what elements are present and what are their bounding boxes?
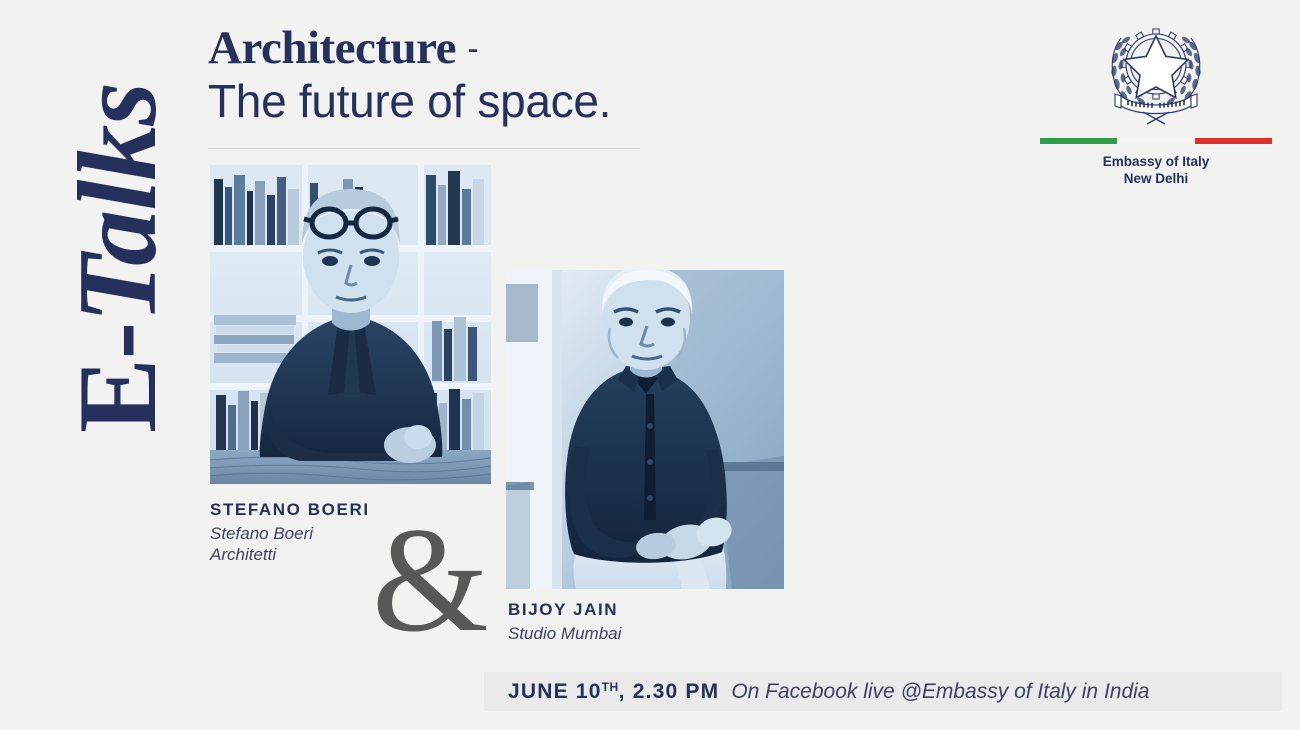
speaker-affiliation: Stefano Boeri Architetti [210,523,370,566]
etalks-main: Talks [56,83,180,323]
title-divider [208,148,640,149]
title-block: Architecture - The future of space. [208,24,808,128]
speaker-photo-bijoy-jain [506,270,784,589]
embassy-name: Embassy of Italy New Delhi [1036,154,1276,188]
speaker-caption-bijoy-jain: BIJOY JAIN Studio Mumbai [508,600,621,644]
flag-green-band [1040,138,1117,144]
event-date-suffix: TH [602,680,619,694]
flag-white-band [1117,138,1194,144]
italian-republic-emblem-icon [1103,16,1209,126]
page-title: Architecture - [208,24,808,73]
title-dash: - [467,30,478,68]
embassy-lockup: Embassy of Italy New Delhi [1036,16,1276,188]
page-subtitle: The future of space. [208,75,808,128]
title-main: Architecture [208,22,456,74]
etalks-vertical-brand: E-Talks [58,48,178,468]
portrait-bijoy-jain-illustration [506,270,784,589]
speaker-caption-stefano-boeri: STEFANO BOERI Stefano Boeri Architetti [210,500,370,566]
italian-flag-bar [1040,138,1272,144]
ampersand-connector: & [372,505,489,655]
event-date: JUNE 10 [508,680,602,703]
poster-canvas: E-Talks Architecture - The future of spa… [0,0,1300,730]
event-channel: On Facebook live @Embassy of Italy in In… [731,680,1149,704]
etalks-text: E-Talks [62,83,174,433]
flag-red-band [1195,138,1272,144]
event-info-bar: JUNE 10TH, 2.30 PM On Facebook live @Emb… [484,672,1282,711]
speaker-name: STEFANO BOERI [210,500,370,520]
event-time: , 2.30 PM [619,680,720,703]
etalks-prefix: E- [56,323,180,433]
speaker-photo-stefano-boeri [210,165,491,484]
speaker-name: BIJOY JAIN [508,600,621,620]
portrait-stefano-boeri-illustration [210,165,491,484]
speaker-affiliation: Studio Mumbai [508,623,621,644]
event-datetime: JUNE 10TH, 2.30 PM [508,680,719,704]
